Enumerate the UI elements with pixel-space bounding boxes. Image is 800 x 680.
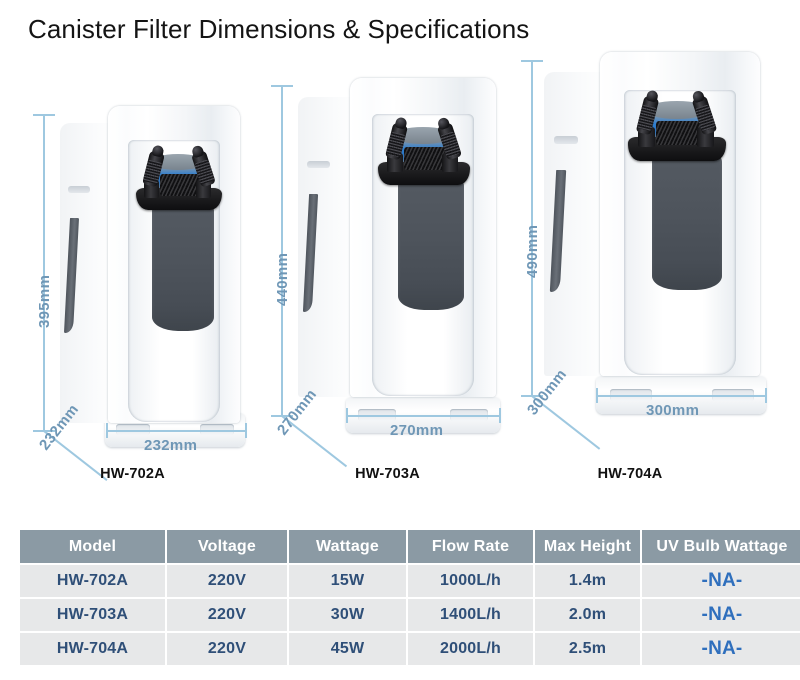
dim-line-width-3	[596, 395, 766, 397]
filter-top-tab	[554, 136, 578, 144]
cell-voltage: 220V	[167, 633, 287, 665]
page-root: Canister Filter Dimensions & Specificati…	[0, 0, 800, 680]
table-row: HW-704A 220V 45W 2000L/h 2.5m -NA-	[20, 633, 800, 665]
product-hw-702a: 395mm 232mm 232mm HW-702A	[0, 48, 265, 503]
cell-model: HW-704A	[20, 633, 165, 665]
cell-model: HW-703A	[20, 599, 165, 631]
filter-front-panel	[398, 178, 464, 310]
valve-ribbed-housing	[404, 147, 446, 170]
cell-uv-bulb-wattage: -NA-	[642, 565, 800, 597]
product-gallery: 395mm 232mm 232mm HW-702A	[0, 48, 800, 503]
valve-ribbed-housing	[656, 121, 700, 145]
cell-max-height: 2.0m	[535, 599, 640, 631]
cell-max-height: 1.4m	[535, 565, 640, 597]
cell-model: HW-702A	[20, 565, 165, 597]
filter-front-panel	[152, 203, 214, 331]
table-row: HW-702A 220V 15W 1000L/h 1.4m -NA-	[20, 565, 800, 597]
dim-cap-width-right-1	[245, 423, 247, 438]
column-header-max-height: Max Height	[535, 530, 640, 563]
column-header-model: Model	[20, 530, 165, 563]
filter-top-tab	[68, 186, 90, 193]
cell-max-height: 2.5m	[535, 633, 640, 665]
product-hw-703a: 440mm 270mm 270mm HW-703A	[250, 48, 525, 503]
dim-label-width-2: 270mm	[390, 422, 443, 439]
cell-flow-rate: 1000L/h	[408, 565, 533, 597]
page-title: Canister Filter Dimensions & Specificati…	[28, 14, 529, 45]
dim-line-width-2	[346, 415, 500, 417]
dim-label-height-2: 440mm	[274, 253, 291, 306]
valve-ribbed-housing	[160, 174, 200, 196]
filter-front-panel	[652, 154, 722, 290]
table-header-row: Model Voltage Wattage Flow Rate Max Heig…	[20, 530, 800, 563]
cell-flow-rate: 2000L/h	[408, 633, 533, 665]
dim-label-width-3: 300mm	[646, 402, 699, 419]
product-label-hw-704a: HW-704A	[480, 466, 780, 482]
dim-label-width-1: 232mm	[144, 437, 197, 454]
column-header-wattage: Wattage	[289, 530, 406, 563]
dim-cap-width-right-3	[765, 388, 767, 403]
cell-wattage: 45W	[289, 633, 406, 665]
column-header-voltage: Voltage	[167, 530, 287, 563]
specifications-table: Model Voltage Wattage Flow Rate Max Heig…	[18, 528, 800, 667]
column-header-uv-bulb-wattage: UV Bulb Wattage	[642, 530, 800, 563]
cell-voltage: 220V	[167, 599, 287, 631]
cell-wattage: 15W	[289, 565, 406, 597]
dim-label-height-3: 490mm	[524, 225, 541, 278]
dim-line-height-1	[43, 114, 45, 430]
dim-label-height-1: 395mm	[36, 275, 53, 328]
product-label-hw-702a: HW-702A	[0, 466, 265, 482]
cell-voltage: 220V	[167, 565, 287, 597]
dim-line-width-1	[106, 430, 246, 432]
table-row: HW-703A 220V 30W 1400L/h 2.0m -NA-	[20, 599, 800, 631]
filter-top-tab	[307, 161, 330, 168]
cell-flow-rate: 1400L/h	[408, 599, 533, 631]
product-hw-704a: 490mm 300mm 300mm HW-704A	[500, 48, 800, 503]
cell-uv-bulb-wattage: -NA-	[642, 599, 800, 631]
column-header-flow-rate: Flow Rate	[408, 530, 533, 563]
dim-line-height-2	[281, 85, 283, 415]
cell-wattage: 30W	[289, 599, 406, 631]
cell-uv-bulb-wattage: -NA-	[642, 633, 800, 665]
